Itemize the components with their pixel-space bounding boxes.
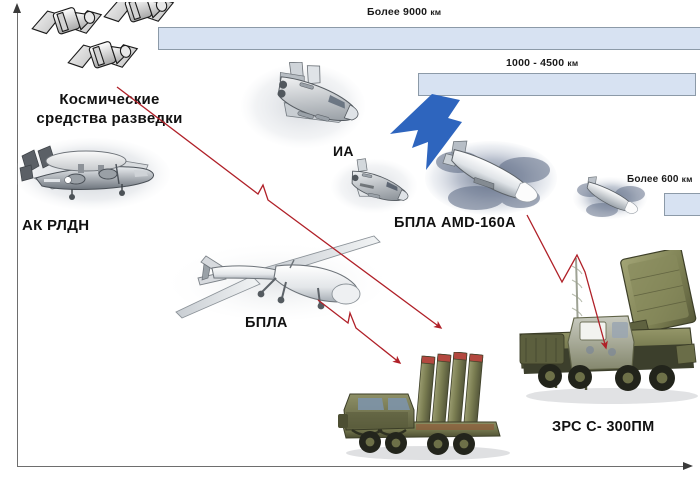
range-bar-9000 xyxy=(158,27,700,50)
range-label-9000-unit: км xyxy=(430,7,441,17)
range-label-4500-unit: км xyxy=(567,58,578,68)
range-axis-arrow-icon xyxy=(683,462,693,470)
caption-space-recon: Космическиесредства разведки xyxy=(22,90,197,128)
caption-amd160a: БПЛА AMD-160A xyxy=(394,215,516,231)
caption-space-recon-l2: средства разведки xyxy=(36,110,182,127)
caption-sam-system: ЗРС С- 300ПМ xyxy=(552,419,655,435)
caption-space-recon-l1: Космические xyxy=(59,91,159,108)
caption-uav: БПЛА xyxy=(245,315,288,331)
caption-fighter-aviation: ИА xyxy=(333,143,354,159)
predator-uav-icon xyxy=(168,232,388,322)
range-bar-600 xyxy=(664,193,700,216)
s300-tel-launcher-icon xyxy=(336,352,516,462)
range-label-4500: 1000 - 4500 км xyxy=(506,57,578,69)
range-label-4500-value: 1000 - 4500 xyxy=(506,57,564,69)
range-axis-line xyxy=(17,466,683,467)
caption-awacs: АК РЛДН xyxy=(22,217,89,234)
diagram-canvas: Более 9000 км 1000 - 4500 км Более 600 к… xyxy=(0,0,700,491)
range-label-9000: Более 9000 км xyxy=(367,6,441,18)
s300-radar-vehicle-icon xyxy=(516,250,700,410)
blue-zigzag-arrow-icon xyxy=(388,92,468,174)
range-label-9000-value: Более 9000 xyxy=(367,6,427,18)
cruise-missile-in-clouds-icon-small xyxy=(572,176,648,220)
range-label-600-unit: км xyxy=(682,174,693,184)
fighter-jet-icon-upper xyxy=(238,62,368,150)
awacs-aircraft-icon xyxy=(12,134,172,214)
satellite-group xyxy=(18,2,178,94)
